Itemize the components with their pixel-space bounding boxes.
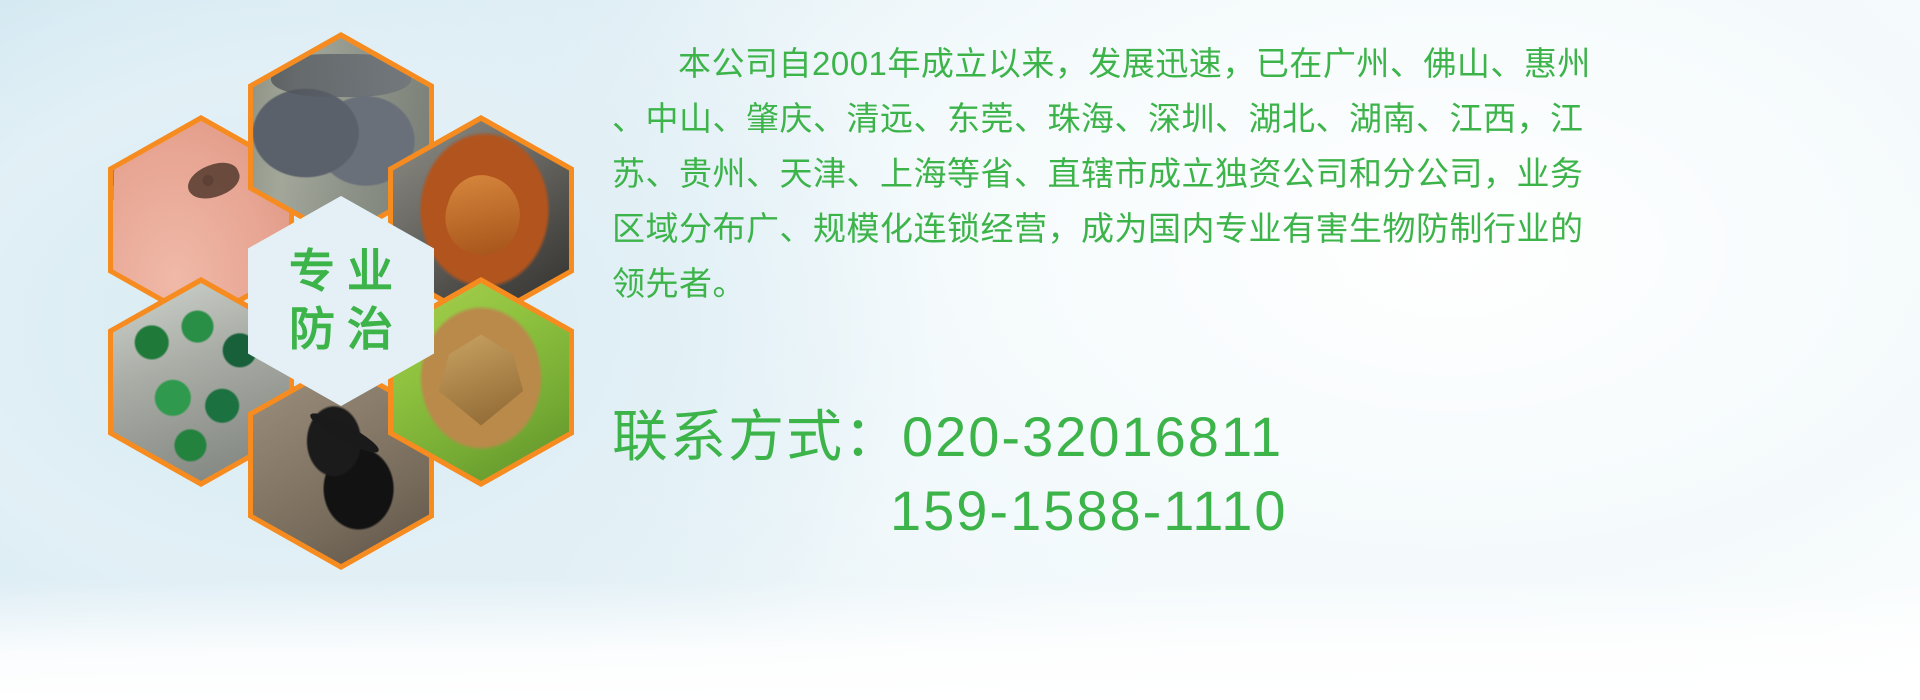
- hex-photo-cluster: 专业 防治: [90, 10, 590, 570]
- contact-phone-mobile[interactable]: 159-1588-1110: [612, 474, 1812, 548]
- contact-phone-landline[interactable]: 联系方式：020-32016811: [612, 400, 1812, 474]
- badge-line-1: 专业: [277, 246, 405, 298]
- intro-line-1: 本公司自2001年成立以来，发展迅速，已在广州、佛山、惠州: [612, 36, 1912, 91]
- pest-control-banner: 专业 防治 本公司自2001年成立以来，发展迅速，已在广州、佛山、惠州 、中山、…: [0, 0, 1920, 700]
- contact-block: 联系方式：020-32016811 159-1588-1110: [612, 400, 1812, 548]
- intro-line-3: 苏、贵州、天津、上海等省、直辖市成立独资公司和分公司，业务: [612, 146, 1912, 201]
- company-intro: 本公司自2001年成立以来，发展迅速，已在广州、佛山、惠州 、中山、肇庆、清远、…: [612, 36, 1912, 311]
- intro-line-4: 区域分布广、规模化连锁经营，成为国内专业有害生物防制行业的: [612, 201, 1912, 256]
- badge-line-2: 防治: [277, 304, 405, 356]
- intro-line-2: 、中山、肇庆、清远、东莞、珠海、深圳、湖北、湖南、江西，江: [612, 91, 1912, 146]
- intro-line-5: 领先者。: [612, 256, 1912, 311]
